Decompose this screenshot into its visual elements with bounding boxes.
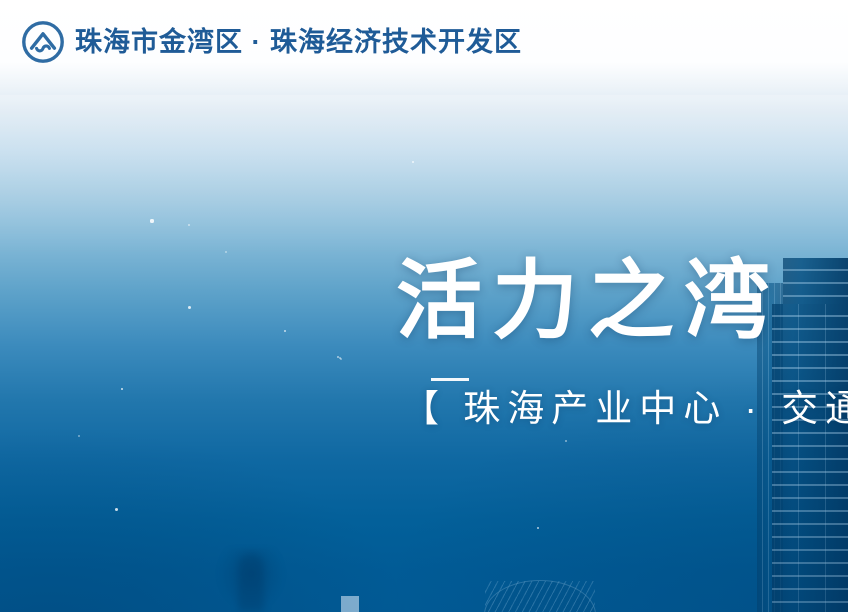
domed-arena-silhouette (482, 578, 598, 612)
statue-body (238, 554, 264, 612)
circular-arch-emblem-icon (22, 21, 64, 63)
hero-subline: 【 珠海产业中心 · 交通 (396, 344, 848, 427)
site-header: 珠海市金湾区 · 珠海经济技术开发区 (0, 0, 848, 84)
hero-copy: 活力之湾 【 珠海产业中心 · 交通 (396, 258, 848, 427)
brand-title: 珠海市金湾区 · 珠海经济技术开发区 (75, 29, 522, 56)
landing-page: 珠海市金湾区 · 珠海经济技术开发区 活力之湾 【 珠海产业中心 · 交通 (0, 0, 848, 612)
arena-dome (484, 580, 596, 612)
hero-sheen-overlay (0, 95, 848, 255)
statue-silhouette (216, 548, 286, 612)
subline-dash-artifact (431, 378, 469, 381)
hero-headline: 活力之湾 (396, 258, 848, 344)
brand-link[interactable]: 珠海市金湾区 · 珠海经济技术开发区 (22, 21, 522, 63)
ground-marker-block (341, 596, 359, 612)
arena-rib-lines (485, 581, 595, 612)
